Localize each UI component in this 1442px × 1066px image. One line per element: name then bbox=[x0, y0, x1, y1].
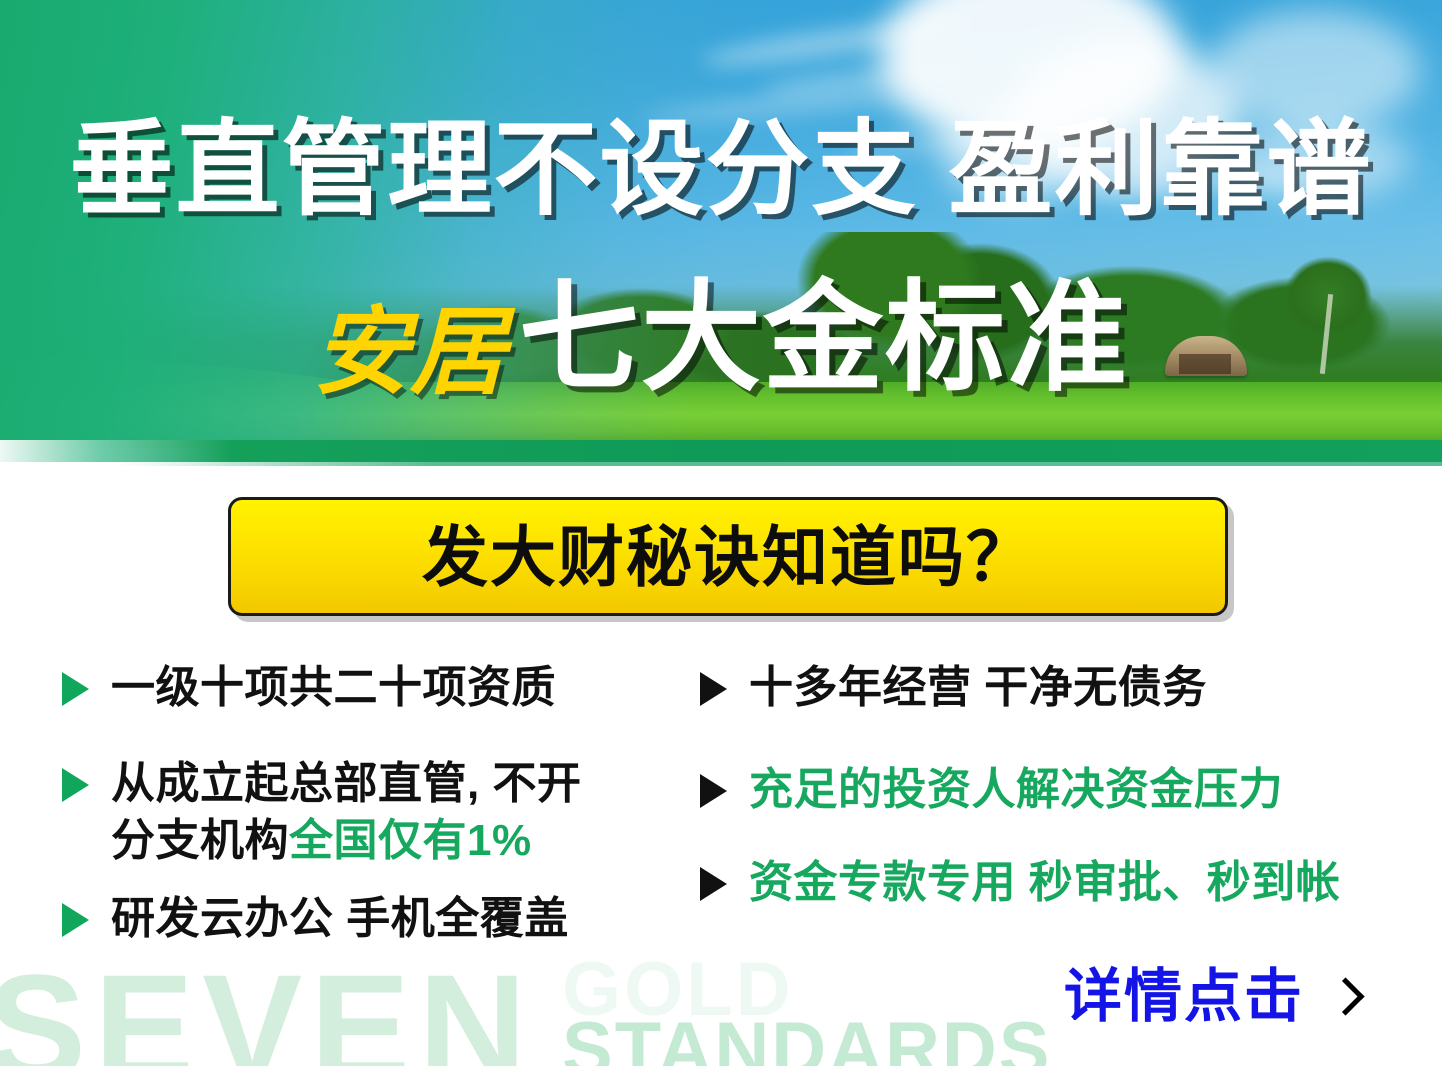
feature-item-text: 十多年经营 干净无债务 bbox=[749, 660, 1207, 716]
triangle-bullet-icon bbox=[62, 903, 89, 937]
hero-headline-secondary: 安居七大金标准 bbox=[0, 278, 1442, 401]
headline-callout-text: 发大财秘诀知道吗？ bbox=[422, 524, 1034, 590]
triangle-bullet-icon bbox=[700, 672, 727, 706]
feature-item-text: 充足的投资人解决资金压力 bbox=[749, 762, 1283, 818]
feature-item-text: 研发云办公 手机全覆盖 bbox=[111, 891, 569, 947]
hero-headline-primary: 垂直管理不设分支 盈利靠谱 bbox=[0, 118, 1442, 222]
triangle-bullet-icon bbox=[62, 768, 89, 802]
advertisement-banner: 垂直管理不设分支 盈利靠谱 安居七大金标准 SEVEN GOLD STANDAR… bbox=[0, 0, 1442, 1066]
feature-line-2-highlight: 全国仅有1% bbox=[289, 816, 532, 865]
hero-headline-slogan: 七大金标准 bbox=[519, 278, 1129, 398]
feature-item: 十多年经营 干净无债务 bbox=[700, 660, 1420, 716]
feature-column-left: 一级十项共二十项资质 从成立起总部直管, 不开 分支机构全国仅有1% 研发云办公… bbox=[62, 660, 702, 981]
feature-item: 资金专款专用 秒审批、秒到帐 bbox=[700, 855, 1420, 911]
details-cta-link[interactable]: 详情点击 bbox=[1064, 968, 1356, 1026]
triangle-bullet-icon bbox=[700, 774, 727, 808]
feature-item: 从成立起总部直管, 不开 分支机构全国仅有1% bbox=[62, 756, 702, 869]
feature-item: 一级十项共二十项资质 bbox=[62, 660, 702, 716]
watermark-standards: STANDARDS bbox=[562, 1012, 1051, 1066]
feature-item-text: 从成立起总部直管, 不开 分支机构全国仅有1% bbox=[111, 756, 581, 869]
feature-line-1: 从成立起总部直管, 不开 bbox=[111, 759, 581, 808]
feature-line-1: 研发云办公 手机全覆盖 bbox=[111, 894, 569, 943]
feature-item-text: 资金专款专用 秒审批、秒到帐 bbox=[749, 855, 1340, 911]
feature-item-text: 一级十项共二十项资质 bbox=[111, 660, 556, 716]
chevron-right-icon bbox=[1330, 975, 1356, 1019]
feature-column-right: 十多年经营 干净无债务 充足的投资人解决资金压力 资金专款专用 秒审批、秒到帐 bbox=[700, 660, 1420, 945]
triangle-bullet-icon bbox=[700, 867, 727, 901]
hero-headline-brand: 安居 bbox=[313, 305, 507, 401]
feature-item: 充足的投资人解决资金压力 bbox=[700, 762, 1420, 818]
feature-line-1: 一级十项共二十项资质 bbox=[111, 663, 556, 712]
headline-callout-banner[interactable]: 发大财秘诀知道吗？ bbox=[228, 497, 1228, 616]
feature-line-2-prefix: 分支机构 bbox=[111, 816, 289, 865]
hero-section: 垂直管理不设分支 盈利靠谱 安居七大金标准 bbox=[0, 0, 1442, 466]
triangle-bullet-icon bbox=[62, 672, 89, 706]
details-cta-label: 详情点击 bbox=[1064, 968, 1304, 1026]
feature-item: 研发云办公 手机全覆盖 bbox=[62, 891, 702, 947]
